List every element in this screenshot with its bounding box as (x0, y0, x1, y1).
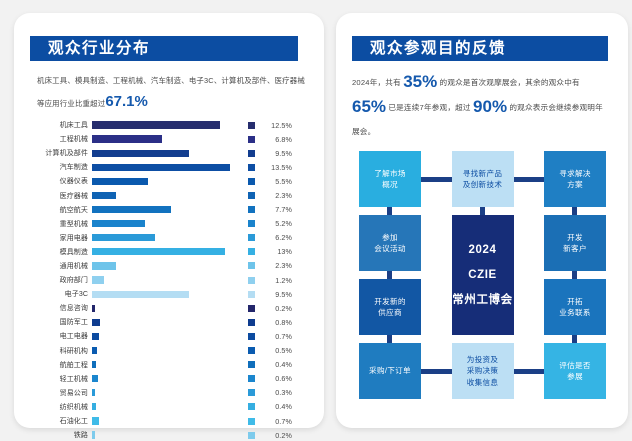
chart-row: 重型机械5.2% (30, 217, 295, 231)
diagram-box-line: 采购决策 (467, 365, 499, 377)
chart-value-label: 0.2% (262, 431, 292, 440)
chart-value-label: 6.8% (262, 135, 292, 144)
visitor-purpose-diagram: 2024CZIE常州工博会了解市场概况寻找新产品及创新技术寻求解决方案参加会议活… (359, 151, 606, 399)
chart-legend-swatch (248, 347, 255, 354)
diagram-box-line: 业务联系 (559, 307, 591, 319)
chart-category-label: 电工电器 (30, 331, 92, 341)
chart-bar-track (92, 428, 244, 441)
diagram-box-line: 及创新技术 (463, 179, 502, 191)
diagram-box-line: 收集信息 (467, 377, 499, 389)
feedback-pct-1: 35% (403, 72, 437, 91)
chart-legend-swatch (248, 262, 255, 269)
chart-category-label: 贸易公司 (30, 388, 92, 398)
chart-legend-swatch (248, 333, 255, 340)
chart-bar (92, 121, 220, 128)
chart-bar (92, 234, 155, 241)
chart-category-label: 电子3C (30, 289, 92, 299)
chart-legend-swatch (248, 319, 255, 326)
diagram-box-line: 寻求解决 (559, 168, 591, 180)
chart-row: 汽车制造13.5% (30, 160, 295, 174)
chart-category-label: 机床工具 (30, 120, 92, 130)
chart-row: 机床工具12.5% (30, 118, 295, 132)
diagram-box-line: 概况 (382, 179, 398, 191)
chart-row: 电子3C9.5% (30, 287, 295, 301)
chart-category-label: 医疗器械 (30, 191, 92, 201)
chart-bar (92, 347, 97, 354)
chart-legend-swatch (248, 248, 255, 255)
diagram-connector (421, 369, 452, 374)
chart-value-label: 6.2% (262, 233, 292, 242)
diagram-box-line: 会议活动 (374, 243, 406, 255)
chart-bar (92, 192, 116, 199)
chart-row: 信息咨询0.2% (30, 301, 295, 315)
chart-row: 国防军工0.8% (30, 315, 295, 329)
chart-row: 计算机及部件9.5% (30, 146, 295, 160)
diagram-connector (387, 335, 392, 343)
feedback-pct-3: 90% (473, 97, 507, 116)
diagram-connector (421, 177, 452, 182)
chart-value-label: 0.4% (262, 360, 292, 369)
chart-legend-swatch (248, 389, 255, 396)
chart-bar (92, 262, 116, 269)
chart-bar-track (92, 118, 244, 132)
chart-bar-track (92, 188, 244, 202)
diagram-box-r3c3: 开拓业务联系 (544, 279, 606, 335)
chart-row: 科研机构0.5% (30, 344, 295, 358)
chart-category-label: 通用机械 (30, 261, 92, 271)
chart-value-label: 13.5% (262, 163, 292, 172)
right-panel-title: 观众参观目的反馈 (352, 41, 506, 57)
chart-row: 航空航天7.7% (30, 203, 295, 217)
chart-category-label: 纺织机械 (30, 402, 92, 412)
chart-category-label: 重型机械 (30, 219, 92, 229)
chart-bar (92, 333, 99, 340)
chart-bar-track (92, 315, 244, 329)
chart-category-label: 信息咨询 (30, 303, 92, 313)
chart-row: 贸易公司0.3% (30, 386, 295, 400)
chart-category-label: 航空航天 (30, 205, 92, 215)
diagram-box-r4c2: 为投资及采购决策收集信息 (452, 343, 514, 399)
visitor-feedback-text: 2024年，共有 35% 的观众是首次观摩展会，其余的观众中有 65% 已是连续… (352, 70, 610, 144)
chart-category-label: 科研机构 (30, 346, 92, 356)
diagram-box-line: 评估是否 (559, 360, 591, 372)
chart-bar-track (92, 203, 244, 217)
chart-value-label: 9.5% (262, 290, 292, 299)
chart-legend-swatch (248, 403, 255, 410)
chart-bar (92, 417, 99, 424)
chart-bar (92, 389, 95, 396)
chart-bar-track (92, 132, 244, 146)
chart-legend-swatch (248, 234, 255, 241)
diagram-box-line: 新客户 (563, 243, 587, 255)
chart-category-label: 铁路 (30, 430, 92, 440)
chart-bar-track (92, 386, 244, 400)
chart-bar-track (92, 273, 244, 287)
chart-bar-track (92, 414, 244, 428)
chart-category-label: 石油化工 (30, 416, 92, 426)
chart-value-label: 5.2% (262, 219, 292, 228)
left-panel-intro: 机床工具、模具制造、工程机械、汽车制造、电子3C、计算机及部件、医疗器械等应用行… (37, 70, 309, 114)
right-panel-header: 观众参观目的反馈 (352, 36, 608, 61)
chart-bar (92, 206, 171, 213)
chart-value-label: 2.3% (262, 261, 292, 270)
chart-legend-swatch (248, 291, 255, 298)
diagram-box-line: 开发 (567, 232, 583, 244)
chart-value-label: 0.7% (262, 417, 292, 426)
chart-bar-track (92, 217, 244, 231)
chart-bar (92, 276, 104, 283)
chart-bar-track (92, 400, 244, 414)
diagram-box-r1c2: 寻找新产品及创新技术 (452, 151, 514, 207)
chart-bar-track (92, 329, 244, 343)
chart-legend-swatch (248, 277, 255, 284)
chart-legend-swatch (248, 122, 255, 129)
intro-highlight: 67.1% (105, 93, 148, 110)
diagram-connector (572, 207, 577, 215)
chart-category-label: 仪器仪表 (30, 176, 92, 186)
diagram-box-line: 寻找新产品 (463, 168, 502, 180)
chart-row: 医疗器械2.3% (30, 188, 295, 202)
diagram-box-line: 参加 (382, 232, 398, 244)
chart-bar-track (92, 358, 244, 372)
feedback-text-3: 已是连续7年参观，超过 (388, 103, 470, 112)
chart-bar-track (92, 174, 244, 188)
chart-bar (92, 319, 100, 326)
chart-category-label: 计算机及部件 (30, 148, 92, 158)
diagram-box-r2c1: 参加会议活动 (359, 215, 421, 271)
chart-value-label: 0.3% (262, 388, 292, 397)
chart-legend-swatch (248, 220, 255, 227)
chart-bar-track (92, 287, 244, 301)
chart-legend-swatch (248, 150, 255, 157)
feedback-pct-2: 65% (352, 97, 386, 116)
chart-bar-track (92, 259, 244, 273)
chart-bar (92, 431, 95, 438)
diagram-box-line: 为投资及 (467, 354, 499, 366)
diagram-box-line: 采购/下订单 (369, 365, 411, 377)
infographic-page: 观众行业分布 机床工具、模具制造、工程机械、汽车制造、电子3C、计算机及部件、医… (0, 0, 632, 441)
feedback-text-1: 2024年，共有 (352, 78, 401, 87)
chart-legend-swatch (248, 375, 255, 382)
diagram-box-r4c1: 采购/下订单 (359, 343, 421, 399)
chart-value-label: 1.2% (262, 276, 292, 285)
chart-row: 模具制造13% (30, 245, 295, 259)
chart-category-label: 国防军工 (30, 317, 92, 327)
diagram-connector (572, 335, 577, 343)
chart-value-label: 0.7% (262, 332, 292, 341)
chart-category-label: 汽车制造 (30, 162, 92, 172)
diagram-connector (480, 207, 485, 215)
chart-value-label: 0.8% (262, 318, 292, 327)
intro-text: 机床工具、模具制造、工程机械、汽车制造、电子3C、计算机及部件、医疗器械等应用行… (37, 76, 305, 108)
chart-bar-track (92, 245, 244, 259)
chart-legend-swatch (248, 192, 255, 199)
industry-bar-chart: 机床工具12.5%工程机械6.8%计算机及部件9.5%汽车制造13.5%仪器仪表… (30, 118, 295, 441)
feedback-text-2: 的观众是首次观摩展会，其余的观众中有 (440, 78, 580, 87)
chart-legend-swatch (248, 164, 255, 171)
chart-bar (92, 361, 96, 368)
chart-legend-swatch (248, 305, 255, 312)
chart-category-label: 工程机械 (30, 134, 92, 144)
chart-value-label: 7.7% (262, 205, 292, 214)
chart-category-label: 模具制造 (30, 247, 92, 257)
chart-value-label: 0.2% (262, 304, 292, 313)
chart-bar (92, 164, 230, 171)
diagram-box-line: 供应商 (378, 307, 402, 319)
chart-legend-swatch (248, 178, 255, 185)
chart-value-label: 0.4% (262, 402, 292, 411)
diagram-connector (387, 207, 392, 215)
chart-category-label: 政府部门 (30, 275, 92, 285)
diagram-box-r1c3: 寻求解决方案 (544, 151, 606, 207)
chart-value-label: 9.5% (262, 149, 292, 158)
chart-bar (92, 403, 96, 410)
chart-row: 铁路0.2% (30, 428, 295, 441)
chart-bar (92, 220, 145, 227)
chart-bar (92, 135, 162, 142)
chart-row: 通用机械2.3% (30, 259, 295, 273)
chart-row: 轻工机械0.6% (30, 372, 295, 386)
diagram-box-r2c3: 开发新客户 (544, 215, 606, 271)
chart-category-label: 轻工机械 (30, 374, 92, 384)
chart-bar (92, 178, 148, 185)
chart-legend-swatch (248, 418, 255, 425)
chart-row: 纺织机械0.4% (30, 400, 295, 414)
chart-row: 石油化工0.7% (30, 414, 295, 428)
diagram-box-r1c1: 了解市场概况 (359, 151, 421, 207)
chart-row: 仪器仪表5.5% (30, 174, 295, 188)
diagram-connector (514, 177, 545, 182)
chart-bar (92, 375, 98, 382)
diagram-box-line: 了解市场 (374, 168, 406, 180)
diagram-box-line: 参展 (567, 371, 583, 383)
left-panel-title: 观众行业分布 (30, 41, 150, 57)
chart-value-label: 2.3% (262, 191, 292, 200)
chart-row: 政府部门1.2% (30, 273, 295, 287)
chart-bar-track (92, 160, 244, 174)
chart-value-label: 0.5% (262, 346, 292, 355)
chart-value-label: 0.6% (262, 374, 292, 383)
diagram-center-line-3: 常州工博会 (452, 288, 513, 313)
chart-bar-track (92, 372, 244, 386)
chart-row: 航舶工程0.4% (30, 358, 295, 372)
chart-legend-swatch (248, 432, 255, 439)
diagram-connector (387, 271, 392, 279)
chart-value-label: 13% (262, 247, 292, 256)
diagram-box-line: 方案 (567, 179, 583, 191)
chart-legend-swatch (248, 206, 255, 213)
chart-category-label: 航舶工程 (30, 360, 92, 370)
diagram-center-line-1: 2024 (469, 238, 497, 263)
chart-bar (92, 291, 189, 298)
diagram-center-box: 2024CZIE常州工博会 (452, 215, 514, 335)
diagram-box-r3c1: 开发新的供应商 (359, 279, 421, 335)
chart-row: 工程机械6.8% (30, 132, 295, 146)
left-panel-header: 观众行业分布 (30, 36, 298, 61)
diagram-box-line: 开拓 (567, 296, 583, 308)
chart-value-label: 12.5% (262, 121, 292, 130)
diagram-connector (514, 369, 545, 374)
chart-bar (92, 305, 95, 312)
chart-bar-track (92, 344, 244, 358)
chart-bar (92, 248, 225, 255)
diagram-connector (572, 271, 577, 279)
chart-bar-track (92, 146, 244, 160)
chart-bar-track (92, 231, 244, 245)
chart-legend-swatch (248, 361, 255, 368)
chart-row: 家用电器6.2% (30, 231, 295, 245)
chart-value-label: 5.5% (262, 177, 292, 186)
chart-category-label: 家用电器 (30, 233, 92, 243)
diagram-box-line: 开发新的 (374, 296, 406, 308)
chart-bar (92, 150, 189, 157)
chart-legend-swatch (248, 136, 255, 143)
diagram-box-r4c3: 评估是否参展 (544, 343, 606, 399)
chart-row: 电工电器0.7% (30, 329, 295, 343)
diagram-center-line-2: CZIE (468, 263, 497, 288)
chart-bar-track (92, 301, 244, 315)
